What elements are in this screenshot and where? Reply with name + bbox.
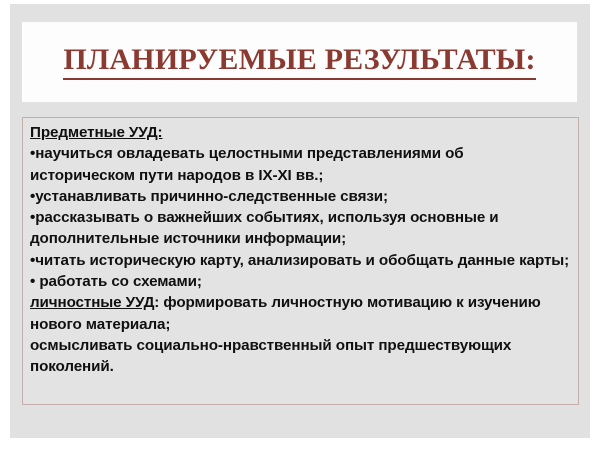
list-item: • работать со схемами; (30, 271, 572, 292)
page-title: ПЛАНИРУЕМЫЕ РЕЗУЛЬТАТЫ: (63, 44, 535, 80)
body-text-block: Предметные УУД: •научиться овладевать це… (30, 122, 572, 378)
list-item: осмысливать социально-нравственный опыт … (30, 335, 572, 378)
list-item: •рассказывать о важнейших событиях, испо… (30, 207, 572, 250)
slide-canvas: ПЛАНИРУЕМЫЕ РЕЗУЛЬТАТЫ: Предметные УУД: … (10, 4, 590, 438)
list-item: •читать историческую карту, анализироват… (30, 250, 572, 271)
title-plate: ПЛАНИРУЕМЫЕ РЕЗУЛЬТАТЫ: (22, 22, 577, 102)
subject-uud-heading-label: Предметные УУД: (30, 124, 163, 141)
personal-uud-heading-label: личностные УУД (30, 294, 154, 311)
list-item: •устанавливать причинно-следственные свя… (30, 186, 572, 207)
content-panel: Предметные УУД: •научиться овладевать це… (22, 117, 579, 405)
section-heading-personal: личностные УУД: формировать личностную м… (30, 292, 572, 335)
list-item: •научиться овладевать целостными предста… (30, 143, 572, 186)
section-heading-subject: Предметные УУД: (30, 122, 572, 143)
